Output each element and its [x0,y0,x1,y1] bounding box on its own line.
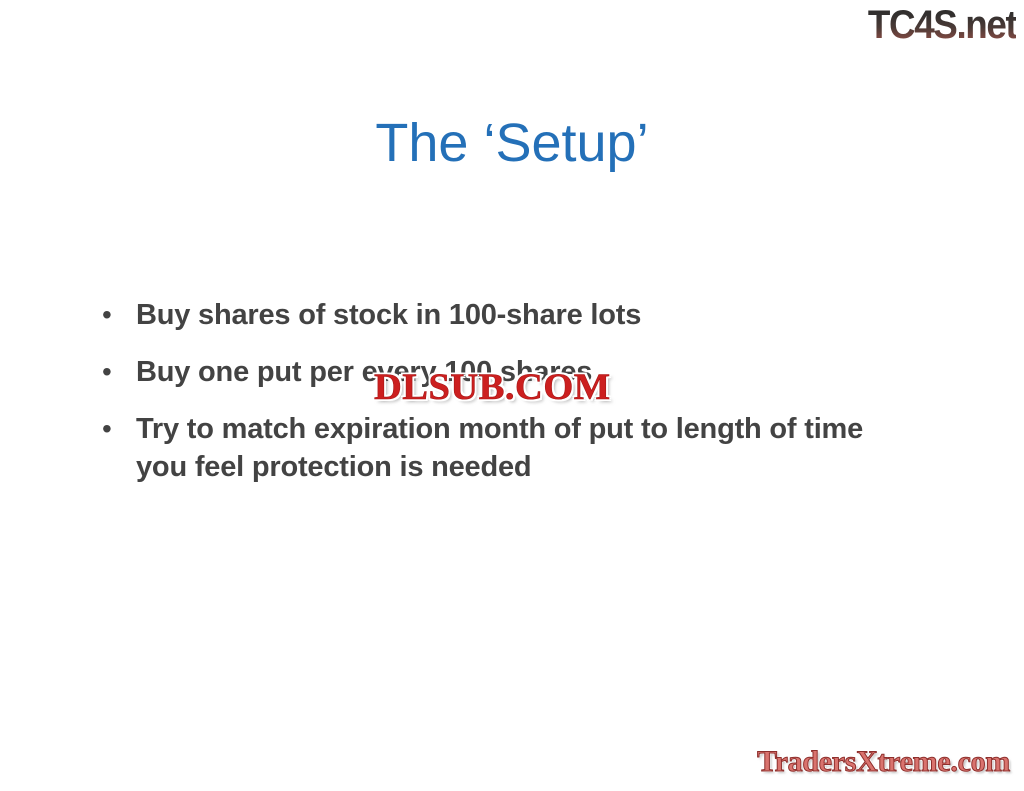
list-item: • Try to match expiration month of put t… [100,410,900,486]
list-item: • Buy shares of stock in 100-share lots [100,296,900,334]
tradersxtreme-com-logo: TradersXtreme.com [757,745,1010,779]
bullet-text: Buy shares of stock in 100-share lots [136,296,900,334]
presentation-slide: TC4S.net The ‘Setup’ • Buy shares of sto… [0,0,1024,791]
slide-title: The ‘Setup’ [0,112,1024,174]
tc4s-net-logo: TC4S.net [868,2,1016,48]
dlsub-com-watermark: DLSUB.COM [374,367,611,408]
bullet-text: Try to match expiration month of put to … [136,410,896,486]
bullet-point-icon: • [100,410,136,448]
bullet-point-icon: • [100,353,136,391]
bullet-point-icon: • [100,296,136,334]
